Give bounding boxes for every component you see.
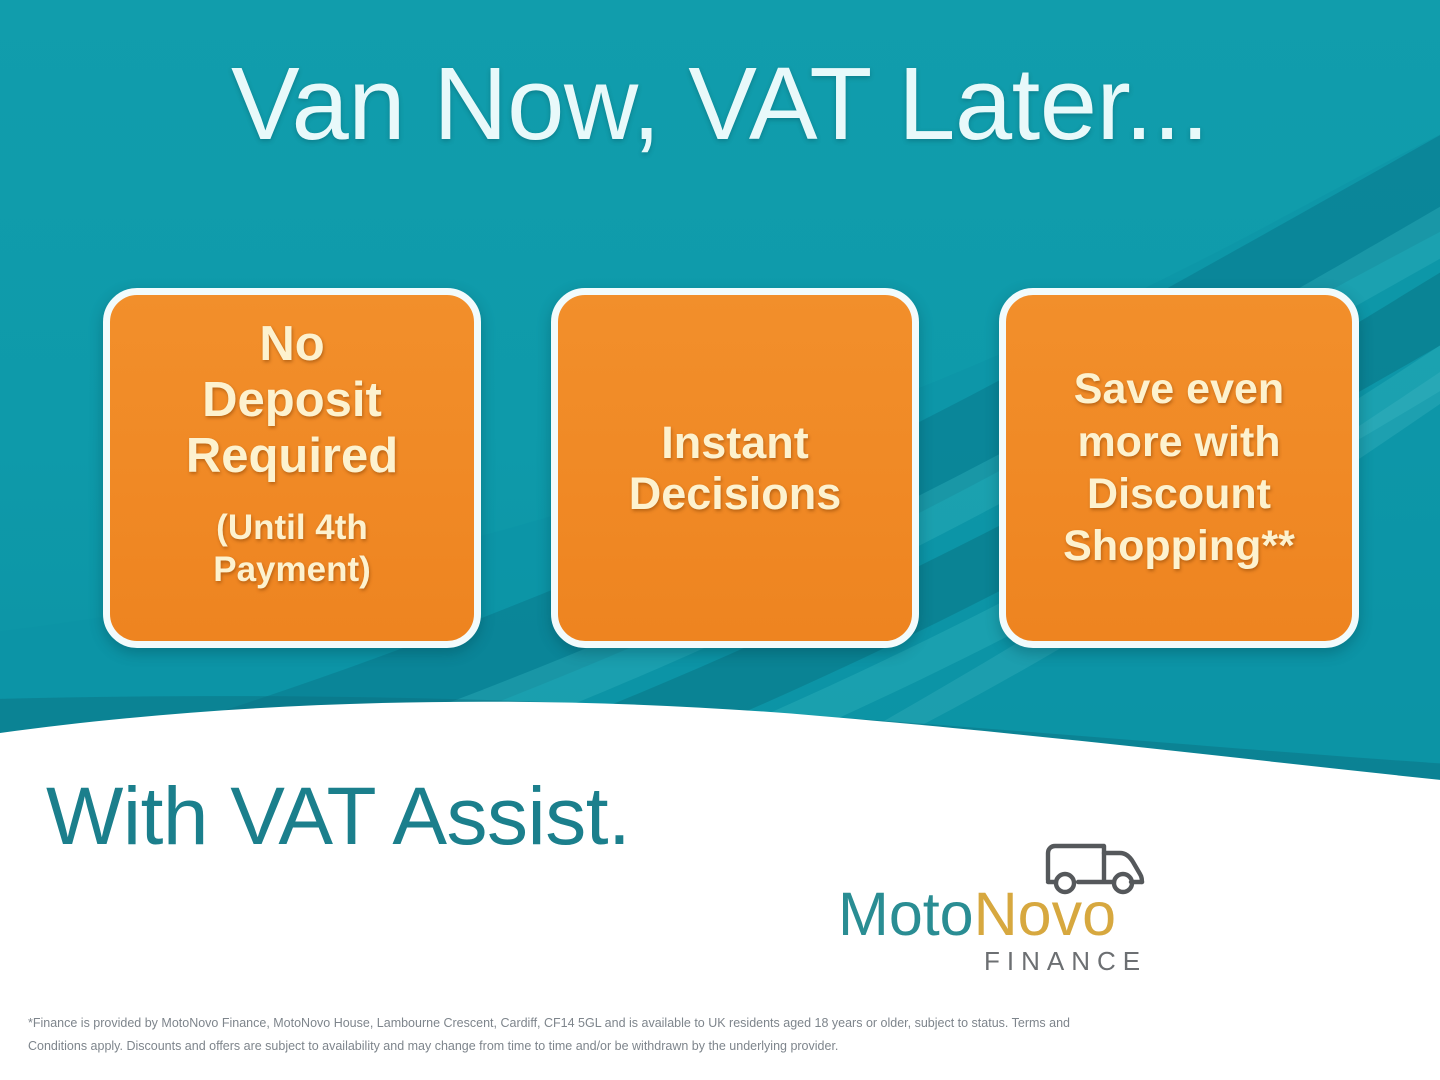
disclaimer-line-1: *Finance is provided by MotoNovo Finance…: [28, 1012, 1388, 1035]
disclaimer-line-2: Conditions apply. Discounts and offers a…: [28, 1035, 1388, 1058]
logo-novo-text: Novo: [974, 880, 1116, 948]
motonovo-finance-logo: MotoNovo FINANCE: [838, 836, 1168, 978]
feature-card-group: NoDepositRequired (Until 4thPayment) Ins…: [0, 288, 1440, 656]
logo-finance-text: FINANCE: [984, 946, 1147, 977]
page-subtitle: With VAT Assist.: [46, 776, 630, 858]
feature-card-subtitle: (Until 4thPayment): [213, 507, 371, 591]
feature-card-title: Save evenmore withDiscountShopping**: [1063, 363, 1295, 573]
logo-moto-text: Moto: [838, 880, 974, 948]
promotional-banner: Van Now, VAT Later... NoDepositRequired …: [0, 0, 1440, 1080]
feature-card-instant-decisions[interactable]: InstantDecisions: [551, 288, 919, 648]
feature-card-title: NoDepositRequired: [186, 317, 398, 485]
feature-card-no-deposit-required[interactable]: NoDepositRequired (Until 4thPayment): [103, 288, 481, 648]
page-title: Van Now, VAT Later...: [0, 52, 1440, 155]
logo-wordmark: MotoNovo: [838, 884, 1116, 945]
feature-card-title: InstantDecisions: [629, 417, 842, 520]
disclaimer-text: *Finance is provided by MotoNovo Finance…: [28, 1012, 1388, 1058]
feature-card-discount-shopping[interactable]: Save evenmore withDiscountShopping**: [999, 288, 1359, 648]
